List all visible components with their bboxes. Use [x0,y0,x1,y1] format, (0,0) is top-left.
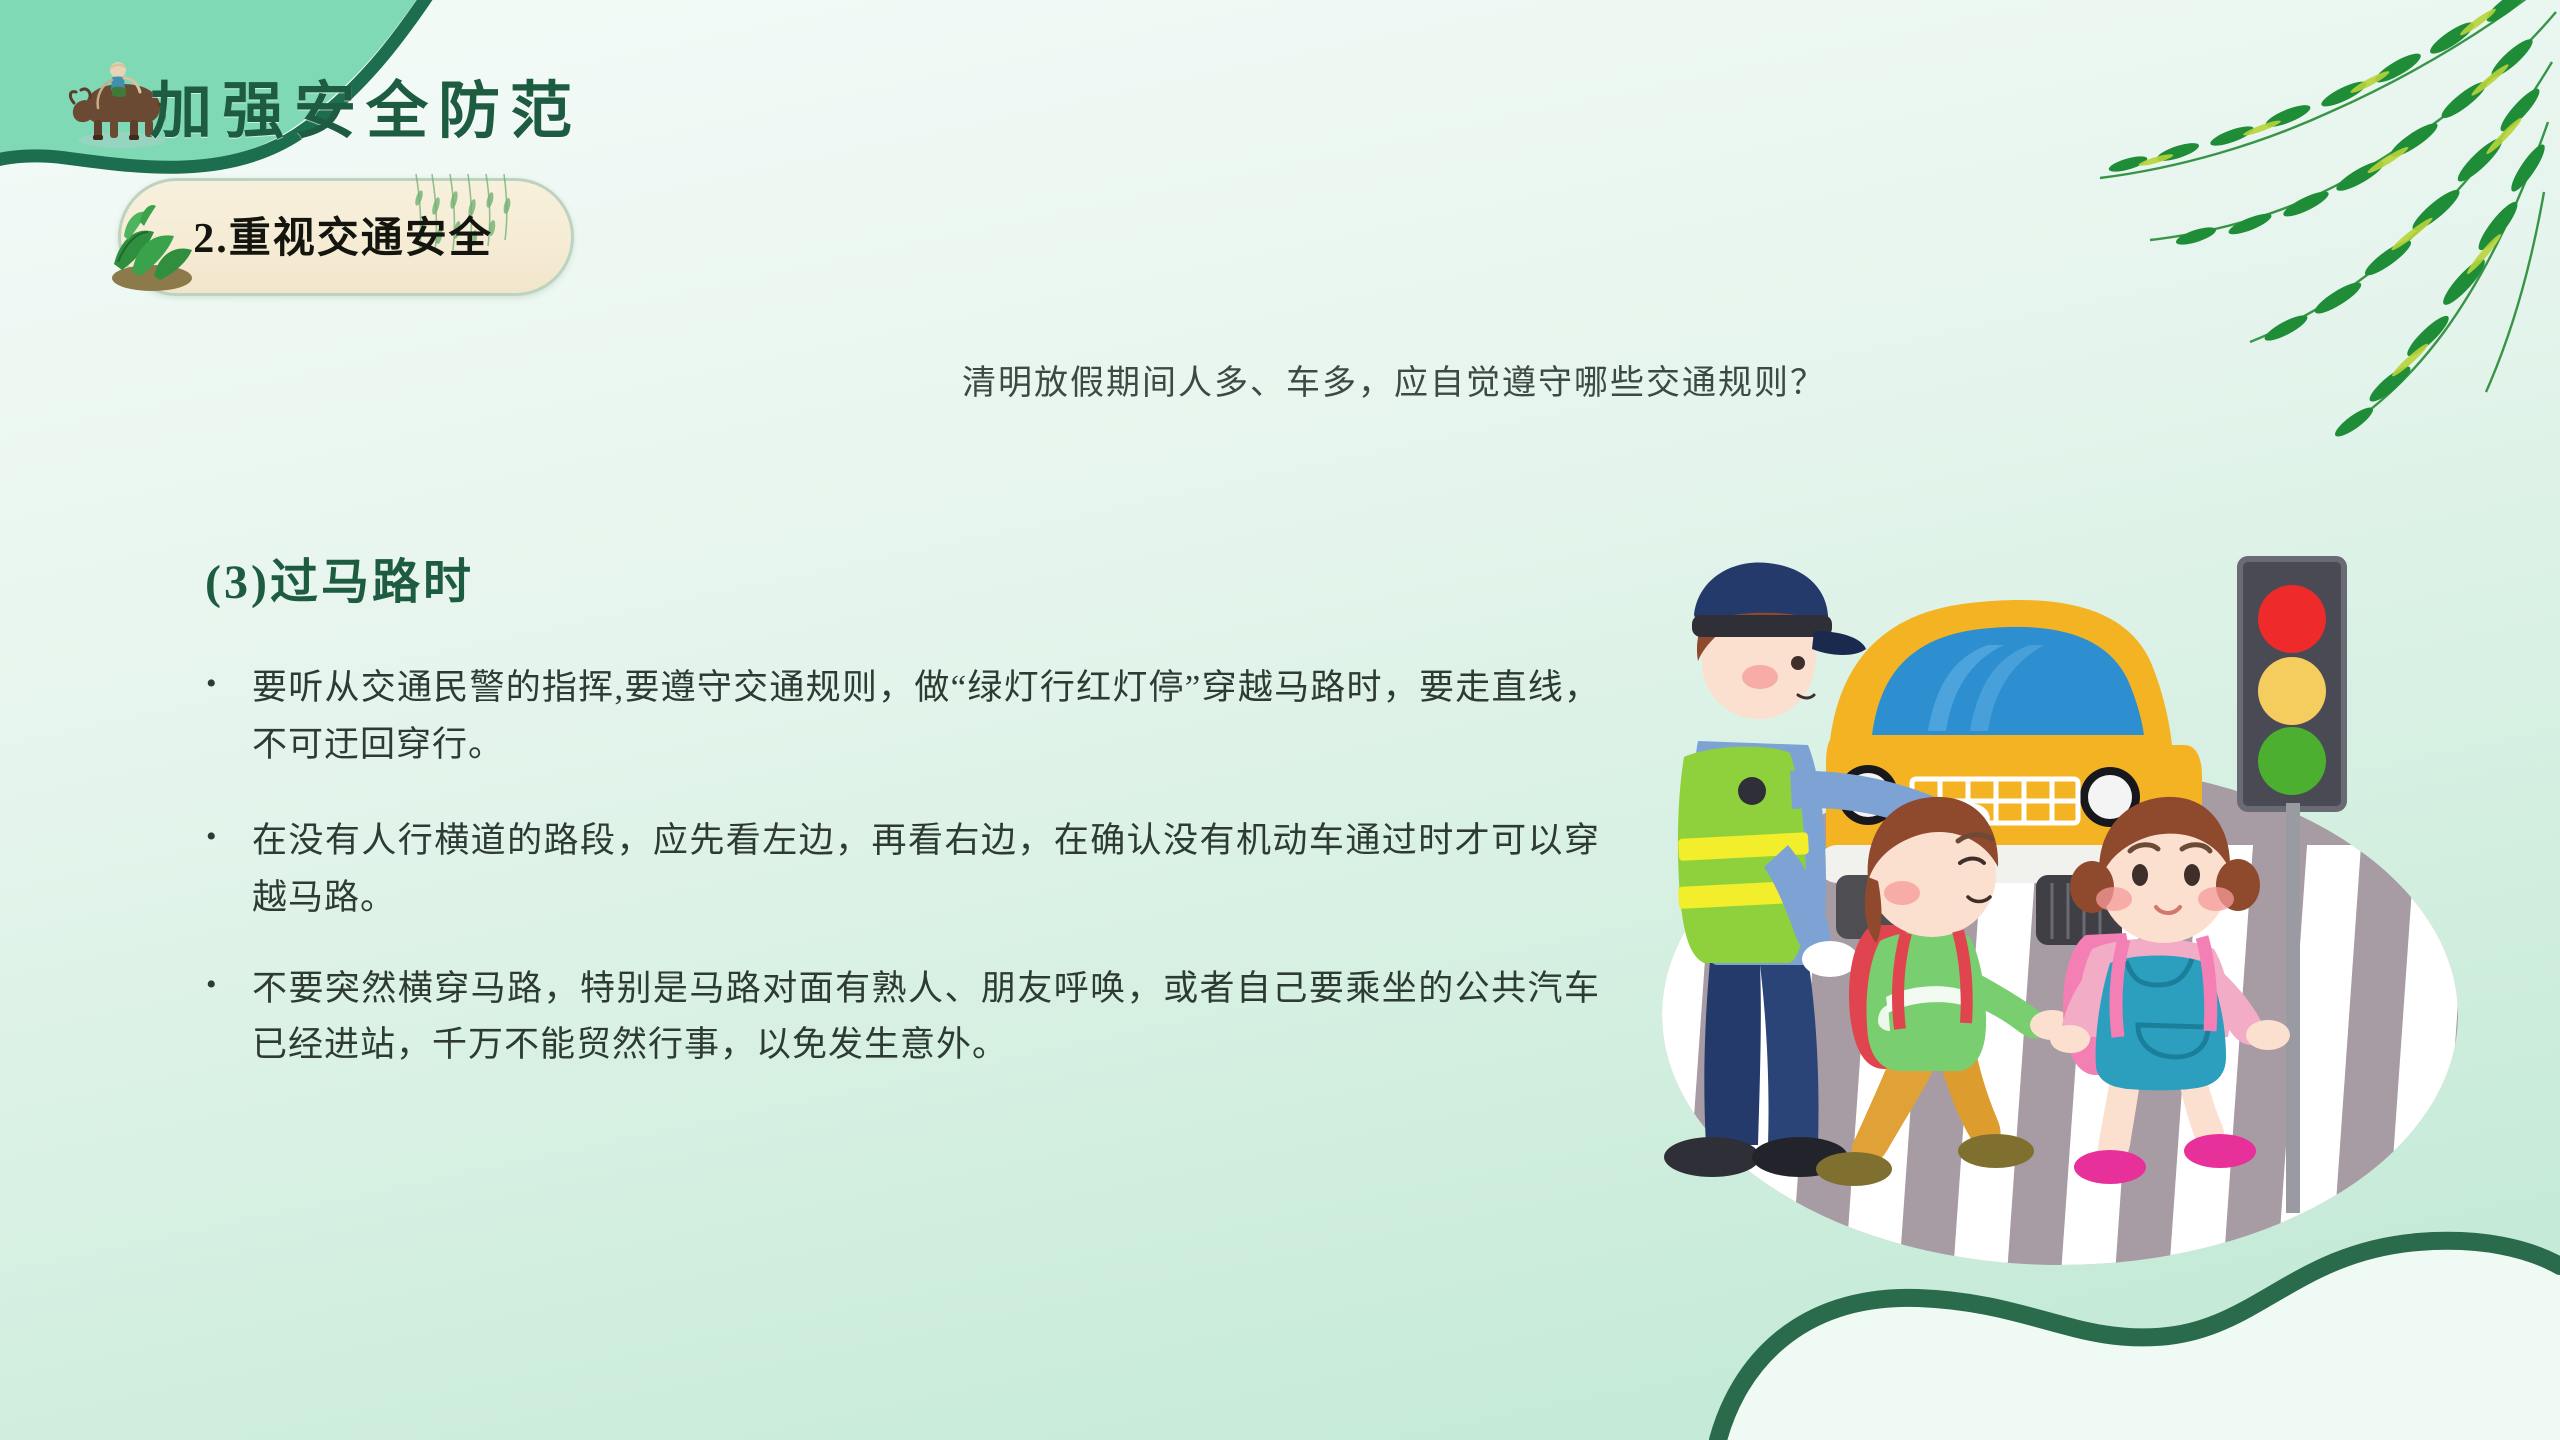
slide-canvas: 加强安全防范 [0,0,2560,1440]
traffic-light-green [2258,727,2326,795]
bullet-marker: • [200,660,252,709]
bullet-marker: • [200,961,252,1010]
section-question: 清明放假期间人多、车多，应自觉遵守哪些交通规则？ [962,355,1826,404]
list-item-text: 不要突然横穿马路，特别是马路对面有熟人、朋友呼唤，或者自己要乘坐的公共汽车已经进… [252,961,1600,1074]
traffic-light-yellow [2258,657,2326,725]
list-item-text: 要听从交通民警的指挥,要遵守交通规则，做“绿灯行红灯停”穿越马路时，要走直线，不… [252,660,1600,773]
list-item: • 不要突然横穿马路，特别是马路对面有熟人、朋友呼唤，或者自己要乘坐的公共汽车已… [200,961,1600,1074]
crosswalk-safety-illustration [1640,545,2500,1285]
green-leaf-cluster-icon [96,192,208,296]
subsection-heading: (3)过马路时 [205,542,474,612]
section-pill[interactable]: 2.重视交通安全 [118,178,578,296]
list-item: • 在没有人行横道的路段，应先看左边，再看右边，在确认没有机动车通过时才可以穿越… [200,813,1600,926]
list-item-text: 在没有人行横道的路段，应先看左边，再看右边，在确认没有机动车通过时才可以穿越马路… [252,813,1600,926]
list-item: • 要听从交通民警的指挥,要遵守交通规则，做“绿灯行红灯停”穿越马路时，要走直线… [200,660,1600,773]
willow-branch-icon [2000,0,2560,462]
bullet-marker: • [200,813,252,862]
traffic-light-red [2258,585,2326,653]
page-title: 加强安全防范 [150,60,582,150]
bullet-list: • 要听从交通民警的指挥,要遵守交通规则，做“绿灯行红灯停”穿越马路时，要走直线… [200,660,1600,1108]
